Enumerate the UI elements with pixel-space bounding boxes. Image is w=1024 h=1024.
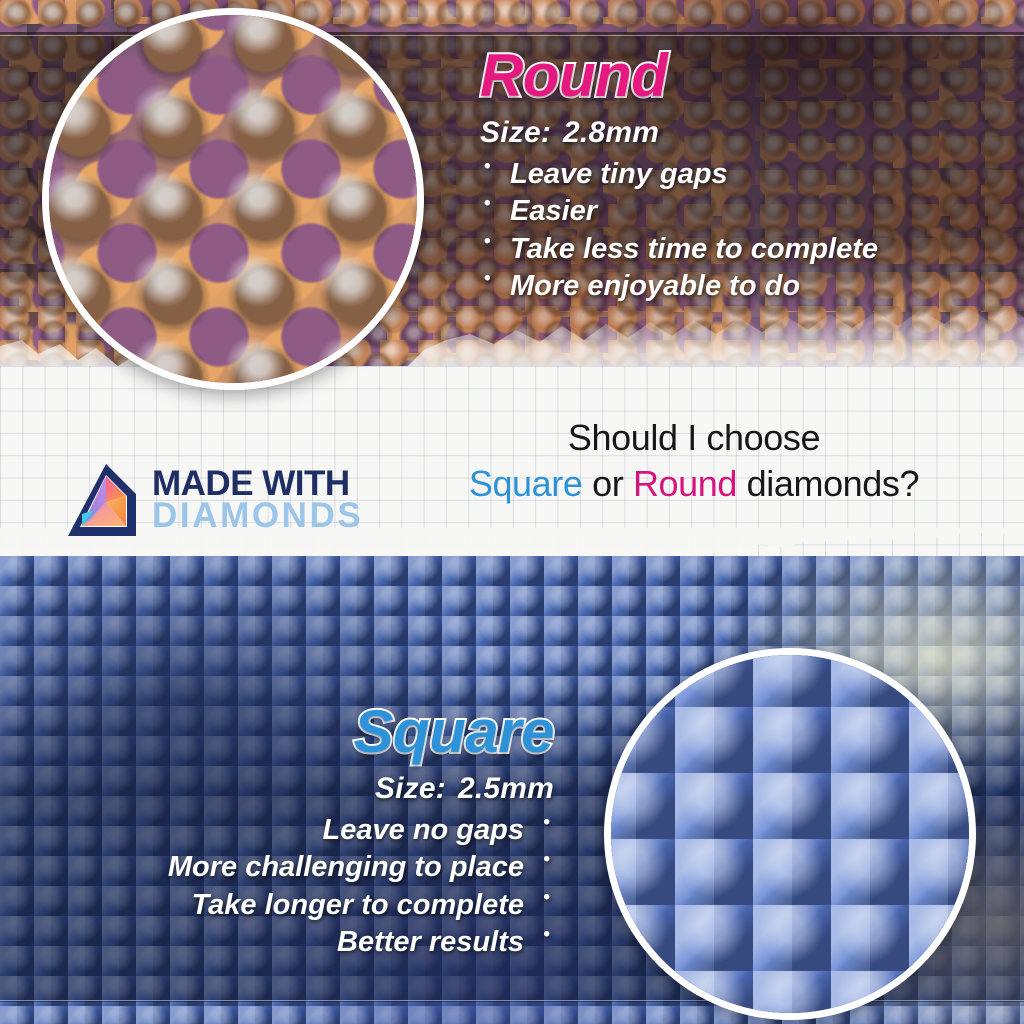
round-diamond-inset-circle (42, 8, 424, 390)
list-item: Take longer to complete (0, 887, 554, 924)
logo-wordmark: MADE WITH DIAMONDS (152, 468, 363, 532)
round-title: Round (480, 46, 1010, 106)
round-size-line: Size:2.8mm (480, 116, 1010, 150)
round-size-value: 2.8mm (563, 116, 659, 149)
square-feature-list: Leave no gaps More challenging to place … (0, 812, 554, 962)
square-size-line: Size:2.5mm (0, 772, 554, 806)
list-item: More challenging to place (0, 849, 554, 886)
list-item: Easier (480, 193, 1010, 230)
question-line-1: Should I choose (424, 418, 964, 458)
list-item: More enjoyable to do (480, 268, 1010, 305)
brand-logo[interactable]: MADE WITH DIAMONDS (66, 462, 363, 538)
logo-line-diamonds: DIAMONDS (152, 500, 363, 532)
square-text-block: Square Size:2.5mm Leave no gaps More cha… (0, 702, 554, 962)
diamond-gem-icon (66, 462, 138, 538)
square-diamond-inset-circle (604, 648, 976, 1020)
question-word-round: Round (633, 463, 737, 504)
question-connector: or (583, 463, 633, 504)
question-block: Should I choose Square or Round diamonds… (424, 418, 964, 505)
infographic-page: MADE WITH DIAMONDS Should I choose Squar… (0, 0, 1024, 1024)
round-text-block: Round Size:2.8mm Leave tiny gaps Easier … (480, 46, 1010, 306)
square-title: Square (0, 702, 554, 762)
round-size-label: Size: (480, 116, 551, 149)
list-item: Better results (0, 924, 554, 961)
question-word-square: Square (469, 463, 583, 504)
round-diamond-inset-photo (42, 8, 424, 390)
square-diamond-inset-photo (604, 648, 976, 1020)
question-line-2: Square or Round diamonds? (424, 464, 964, 504)
round-feature-list: Leave tiny gaps Easier Take less time to… (480, 156, 1010, 306)
list-item: Take less time to complete (480, 231, 1010, 268)
list-item: Leave tiny gaps (480, 156, 1010, 193)
square-size-label: Size: (375, 772, 446, 805)
question-tail: diamonds? (737, 463, 919, 504)
square-size-value: 2.5mm (458, 772, 554, 805)
list-item: Leave no gaps (0, 812, 554, 849)
